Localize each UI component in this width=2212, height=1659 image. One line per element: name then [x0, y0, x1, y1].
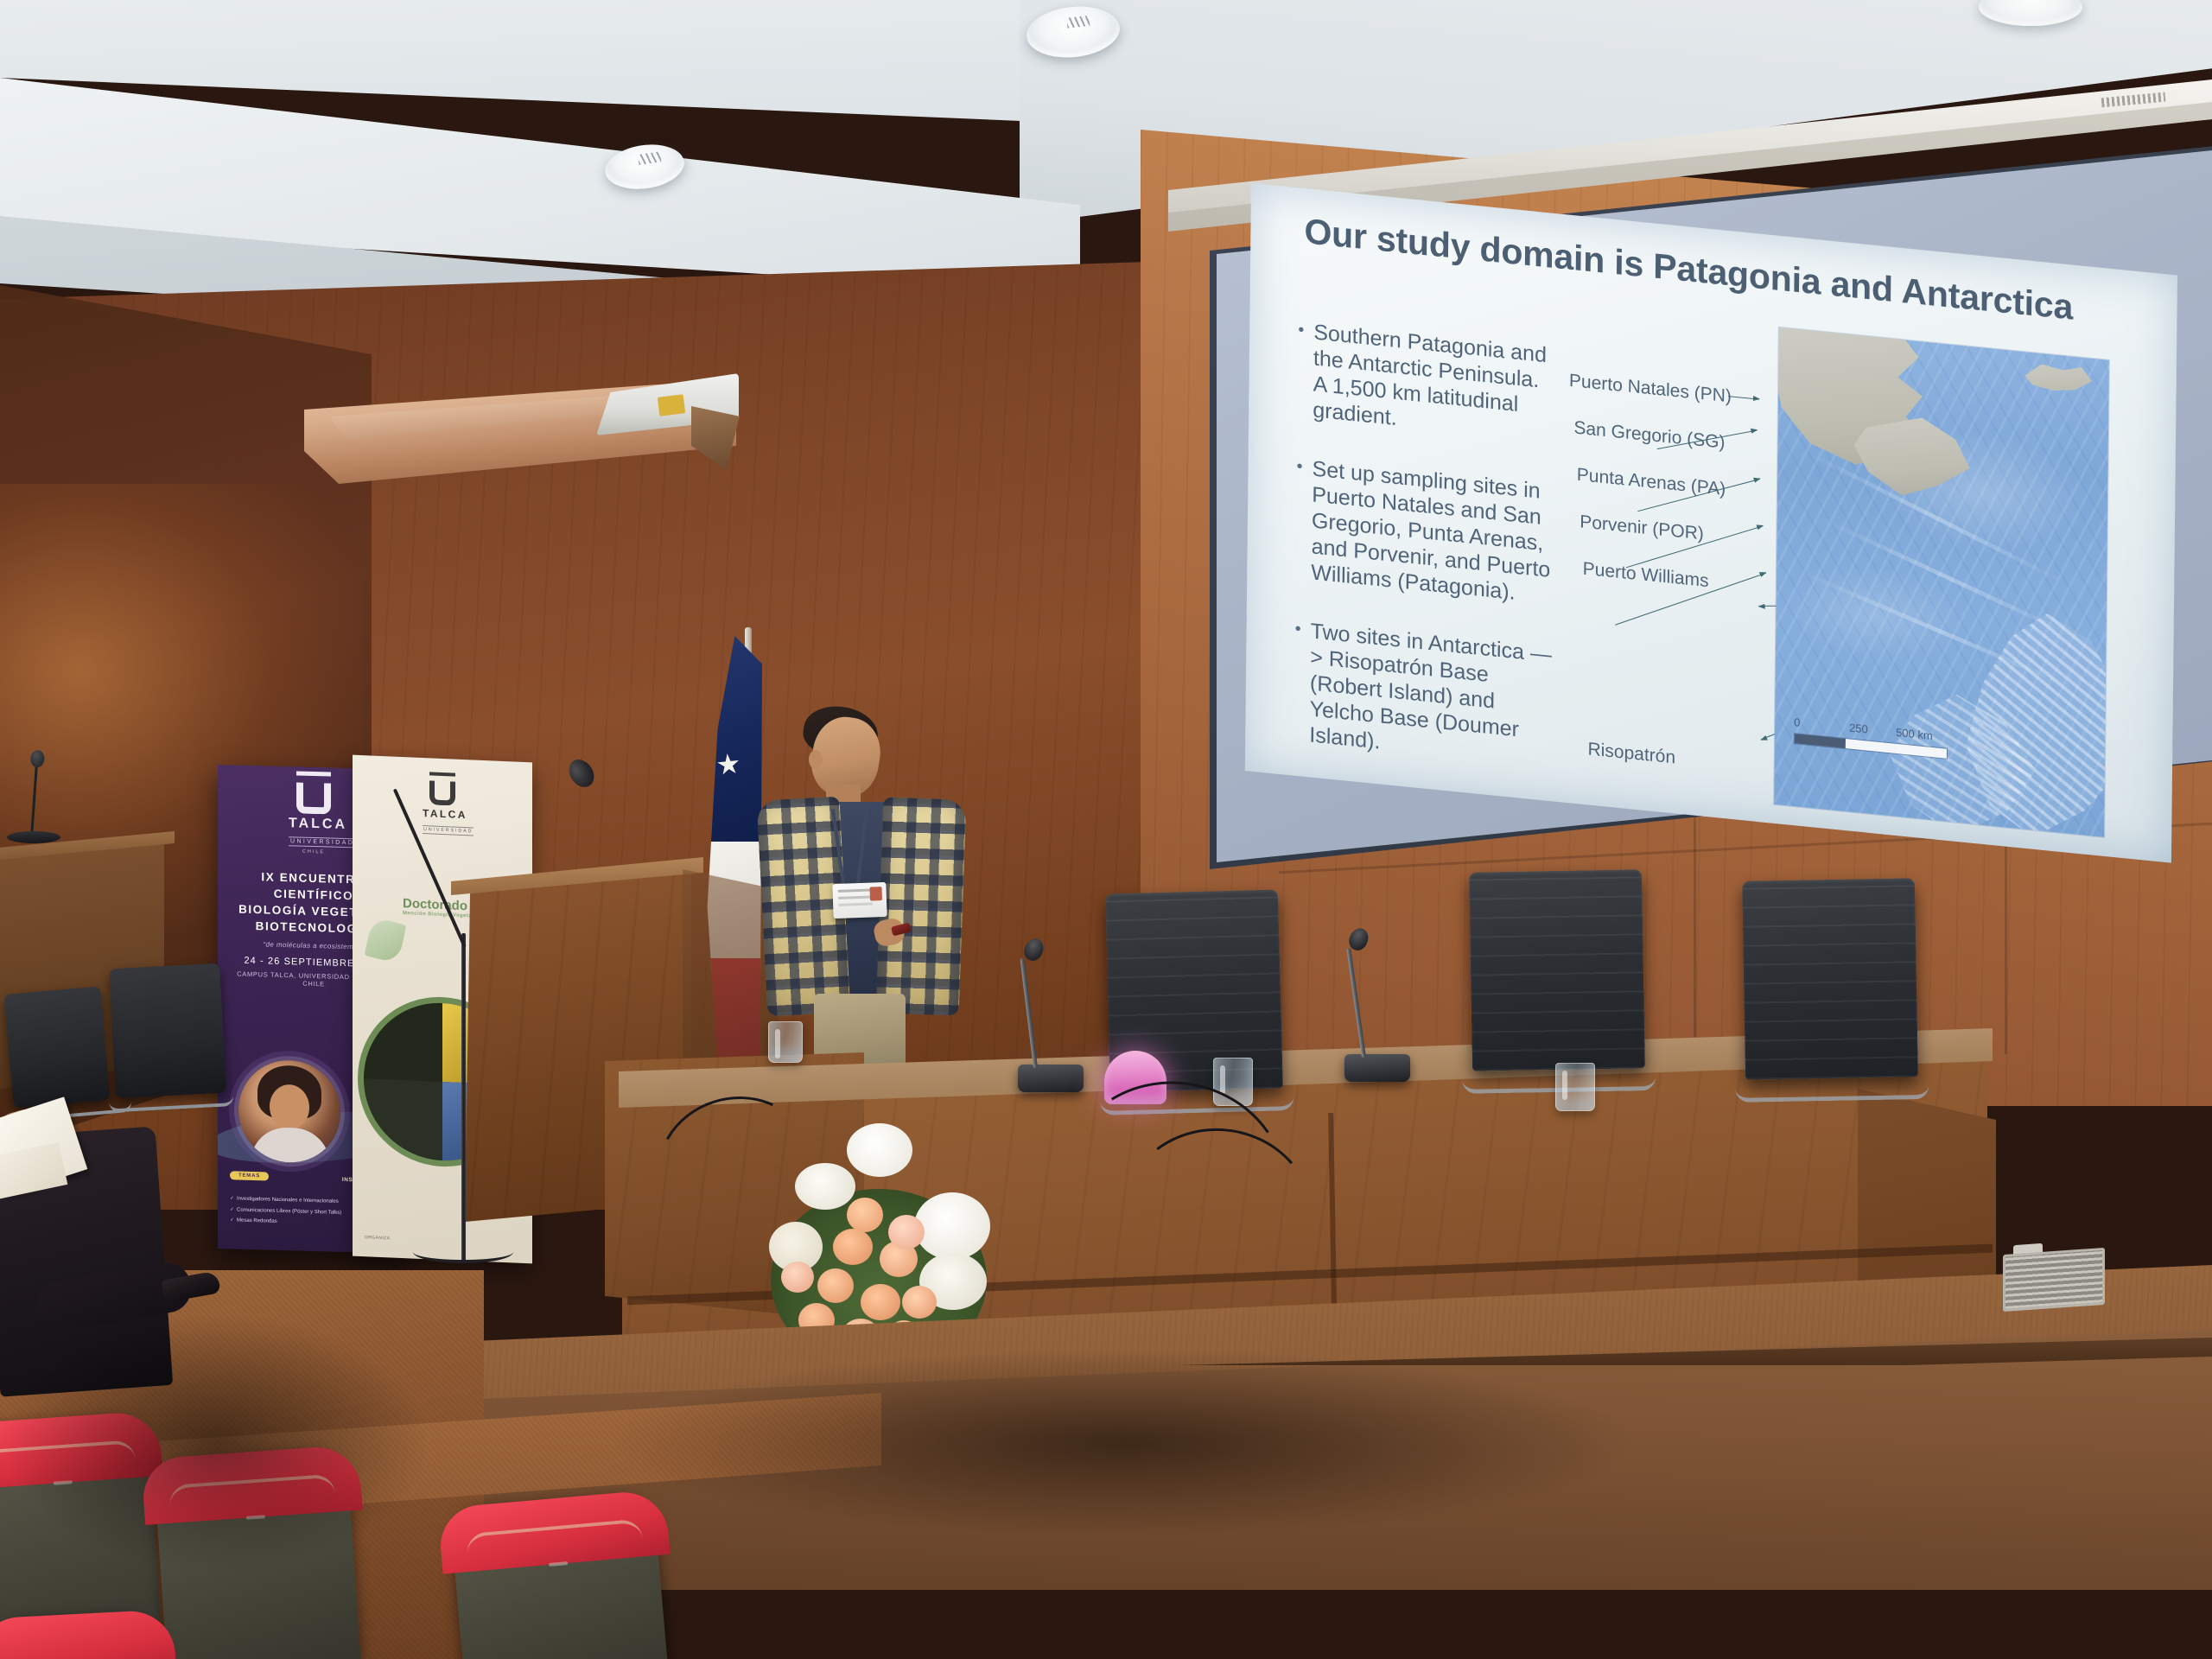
map-label-san-gregorio: San Gregorio (SG) [1573, 417, 1725, 453]
bullet-marker-icon: • [1295, 454, 1303, 585]
chair-backrest [1469, 869, 1645, 1071]
slide-canvas: Our study domain is Patagonia and Antarc… [1245, 183, 2177, 863]
light-vent-slots [638, 151, 661, 165]
light-vent-slots [1066, 16, 1090, 29]
water-glass [768, 1021, 803, 1063]
slide-bullet-list: • Southern Patagonia and the Antarctic P… [1294, 318, 1558, 805]
collage-quadrant [364, 1078, 442, 1160]
badge-logo-mark [869, 887, 882, 900]
poster-brand-name: TALCA [423, 807, 462, 821]
seated-audience-member [0, 1028, 242, 1408]
slide-bullet-text: Set up sampling sites in Puerto Natales … [1311, 455, 1556, 609]
auditorium-seat[interactable] [0, 1618, 167, 1659]
air-conditioner-label-sticker [658, 394, 685, 416]
presenter-name-badge [832, 882, 887, 918]
banner-brand-name: TALCA [289, 816, 339, 833]
bullet-marker-icon: • [1294, 617, 1301, 747]
presenter-flannel-right [876, 797, 967, 1015]
badge-text-lines [838, 888, 873, 892]
projected-slide: Our study domain is Patagonia and Antarc… [1245, 183, 2177, 863]
mic-desk-base [1344, 1054, 1410, 1082]
scale-tick-0: 0 [1794, 715, 1800, 729]
map-label-puerto-williams: Puerto Williams [1583, 559, 1709, 593]
map-label-risopatron: Risopatrón [1587, 739, 1675, 768]
wall-air-vent [2003, 1248, 2105, 1312]
auditorium-seat[interactable] [450, 1498, 670, 1659]
banner-brand-subtitle: UNIVERSIDAD [289, 836, 356, 848]
talca-u-mark-icon [296, 782, 331, 814]
photo-face [270, 1084, 309, 1130]
talca-logo: TALCA UNIVERSIDAD CHILE [289, 782, 339, 855]
banner-topics-list: ✓Investigadores Nacionales e Internacion… [230, 1194, 341, 1230]
slide-bullet-item: • Two sites in Antarctica —> Risopatrón … [1294, 617, 1554, 772]
presenter-ear [809, 750, 823, 769]
mic-stand-pole [461, 933, 466, 1262]
leader-line-pn [1728, 396, 1759, 400]
slide-bullet-text: Southern Patagonia and the Antarctic Pen… [1313, 319, 1557, 447]
pink-rose [888, 1215, 925, 1249]
peach-rose [817, 1268, 854, 1303]
seat-number-tag [549, 1561, 568, 1567]
banner-brand-country: CHILE [289, 849, 339, 855]
study-area-map: 0 250 500 km [1774, 327, 2109, 837]
map-label-punta-arenas: Punta Arenas (PA) [1577, 465, 1726, 500]
peach-rose [847, 1198, 883, 1232]
slide-bullet-text: Two sites in Antarctica —> Risopatrón Ba… [1309, 618, 1554, 772]
white-lily [914, 1192, 990, 1260]
talca-u-mark-icon [429, 780, 455, 805]
map-label-puerto-natales: Puerto Natales (PN) [1569, 371, 1732, 408]
scale-tick-250: 250 [1849, 721, 1868, 735]
collage-quadrant [364, 1000, 442, 1082]
banner-speaker-photo [238, 1059, 340, 1164]
scale-tick-500: 500 km [1896, 726, 1933, 742]
secondary-microphone-base [7, 831, 60, 843]
poster-brand-subtitle: UNIVERSIDAD [423, 825, 474, 836]
white-lily [847, 1123, 912, 1177]
bullet-marker-icon: • [1297, 318, 1304, 423]
seat-number-tag [246, 1515, 265, 1520]
poster-footer-label: ORGANIZA [365, 1234, 390, 1243]
water-glass [1555, 1063, 1595, 1111]
auditorium-photograph: Our study domain is Patagonia and Antarc… [0, 0, 2212, 1659]
pink-rose [781, 1262, 814, 1293]
peach-rose [902, 1286, 937, 1319]
peach-rose [861, 1284, 900, 1320]
chair-armrest [1735, 1070, 1929, 1103]
seat-number-tag [53, 1480, 72, 1485]
peach-rose [833, 1229, 873, 1265]
map-label-porvenir: Porvenir (POR) [1580, 512, 1704, 544]
slide-bullet-item: • Southern Patagonia and the Antarctic P… [1297, 318, 1557, 448]
seat-red-trim [0, 1609, 176, 1659]
mic-stand-tripod-base [413, 1241, 513, 1263]
banner-topic-text: Mesas Redondas [237, 1218, 277, 1224]
photo-torso [251, 1127, 330, 1164]
mic-desk-base [1018, 1065, 1084, 1092]
panel-chair [1469, 869, 1645, 1071]
banner-topic-text: Comunicaciones Libres (Póster y Short Ta… [237, 1207, 341, 1215]
leaf-icon [365, 917, 407, 964]
auditorium-seat[interactable] [154, 1453, 362, 1659]
white-lily [795, 1163, 855, 1210]
poster-talca-logo: TALCA UNIVERSIDAD [423, 780, 462, 836]
slide-bullet-item: • Set up sampling sites in Puerto Natale… [1295, 454, 1556, 610]
panel-chair [1742, 878, 1918, 1079]
banner-topic-text: Investigadores Nacionales e Internaciona… [237, 1197, 339, 1205]
chair-backrest [1742, 878, 1918, 1079]
map-site-label-group: Puerto Natales (PN) San Gregorio (SG) Pu… [1569, 371, 1785, 392]
